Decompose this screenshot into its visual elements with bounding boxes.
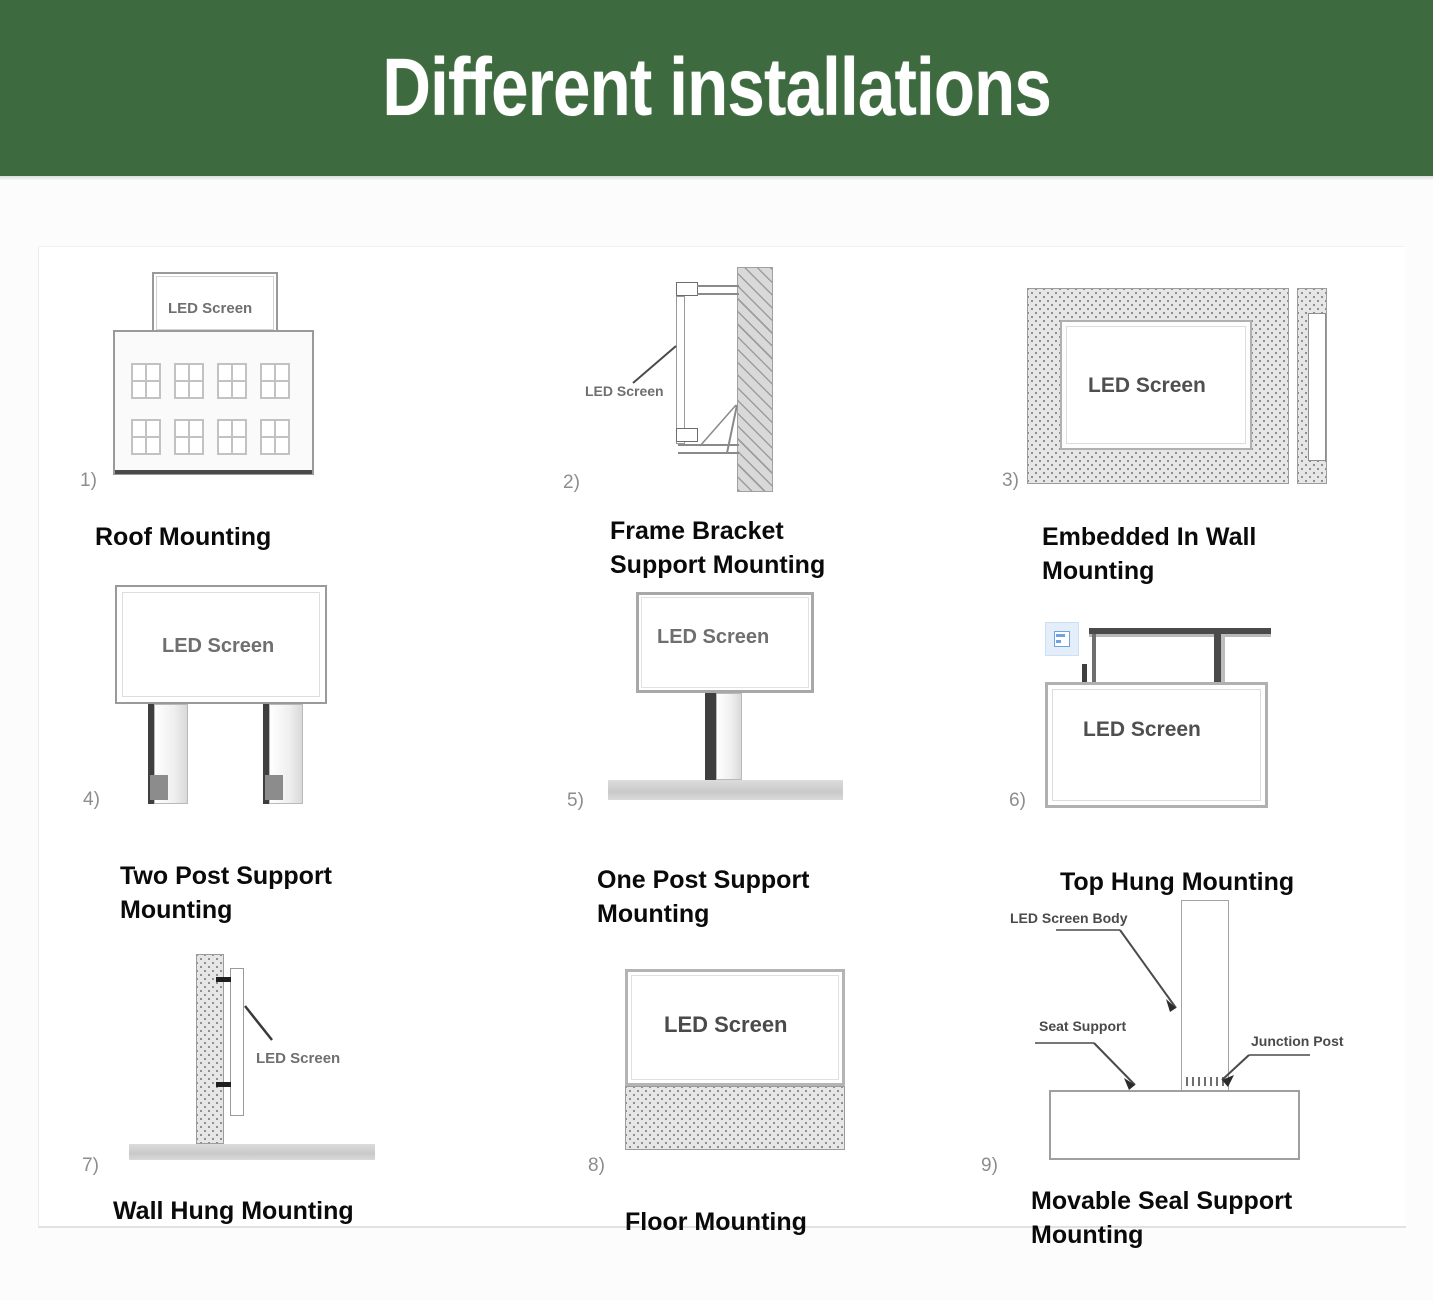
installations-grid: LED Screen 1) Roof Mounting — [0, 0, 1433, 1300]
annotation-led-screen-body: LED Screen Body — [1010, 910, 1127, 926]
annotation-junction-post: Junction Post — [1251, 1033, 1344, 1049]
annotation-seat-support: Seat Support — [1039, 1018, 1126, 1034]
movable-seal-leader-lines — [0, 0, 1433, 1300]
caption-9: Movable Seal Support Mounting — [1031, 1185, 1411, 1252]
figure-number-9: 9) — [981, 1155, 998, 1177]
